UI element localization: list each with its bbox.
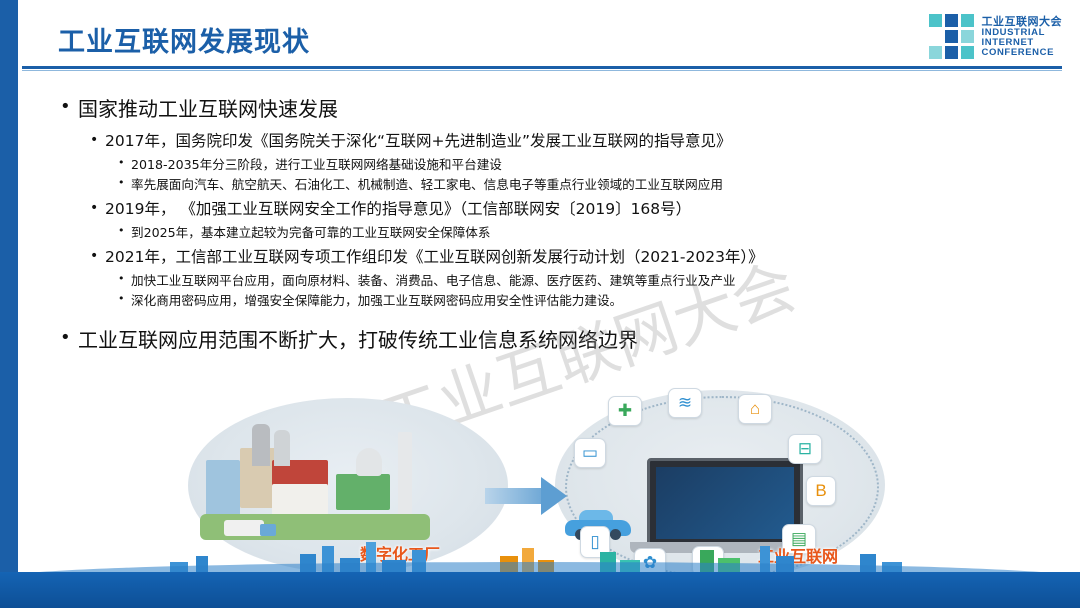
train-icon: ⊟ <box>788 434 822 464</box>
factory-building-white <box>272 484 328 516</box>
warehouse-green <box>336 474 390 510</box>
logo-text-block: 工业互联网大会 INDUSTRIAL INTERNET CONFERENCE <box>982 16 1063 59</box>
wifi-icon: ≋ <box>668 388 702 418</box>
bullet-level3: • 深化商用密码应用，增强安全保障能力，加强工业互联网密码应用安全性评估能力建设… <box>118 292 1050 309</box>
silo-tower-grey <box>252 424 270 466</box>
bullet-marker: • <box>90 247 105 265</box>
bullet-level3: • 率先展面向汽车、航空航天、石油化工、机械制造、轻工家电、信息电子等重点行业领… <box>118 176 1050 193</box>
tank-cylinder <box>356 448 382 476</box>
bullet-level3: • 2018-2035年分三阶段，进行工业互联网网络基础设施和平台建设 <box>118 156 1050 173</box>
bullet-text: 加快工业互联网平台应用，面向原材料、装备、消费品、电子信息、能源、医疗医药、建筑… <box>131 272 736 289</box>
left-accent-bar <box>0 0 18 608</box>
monitor-icon: ▭ <box>574 438 606 468</box>
bullet-level1: • 工业互联网应用范围不断扩大，打破传统工业信息系统网络边界 <box>60 327 1050 354</box>
truck-body <box>224 520 264 536</box>
left-accent-bar-highlight <box>18 0 22 608</box>
bullet-marker: • <box>90 199 105 217</box>
title-divider-secondary <box>22 70 1062 71</box>
bullet-level1: • 国家推动工业互联网快速发展 <box>60 96 1050 123</box>
hospital-icon: ✚ <box>608 396 642 426</box>
bullet-text: 国家推动工业互联网快速发展 <box>78 96 338 123</box>
factory-icon: ⌂ <box>738 394 772 424</box>
bullet-text: 2019年， 《加强工业互联网安全工作的指导意见》（工信部联网安〔2019〕16… <box>105 199 691 220</box>
bullet-marker: • <box>90 131 105 149</box>
conference-logo: 工业互联网大会 INDUSTRIAL INTERNET CONFERENCE <box>929 14 1063 60</box>
t-shaped-mosaic-logo <box>929 14 975 60</box>
bullet-text: 2017年，国务院印发《国务院关于深化“互联网+先进制造业”发展工业互联网的指导… <box>105 131 732 152</box>
bullet-marker: • <box>118 292 131 307</box>
bullet-marker: • <box>118 156 131 171</box>
bullet-marker: • <box>118 176 131 191</box>
bullet-marker: • <box>60 96 78 119</box>
bullet-level2: • 2019年， 《加强工业互联网安全工作的指导意见》（工信部联网安〔2019〕… <box>90 199 1050 220</box>
office-building-blue <box>206 460 240 518</box>
logo-title-en-3: CONFERENCE <box>982 48 1063 58</box>
bullet-level3: • 加快工业互联网平台应用，面向原材料、装备、消费品、电子信息、能源、医疗医药、… <box>118 272 1050 289</box>
logo-title-cn: 工业互联网大会 <box>982 16 1063 28</box>
battery-icon: B <box>806 476 836 506</box>
blue-right-arrow <box>485 488 543 504</box>
blue-right-arrow-head <box>541 477 567 515</box>
bullet-level2: • 2017年，国务院印发《国务院关于深化“互联网+先进制造业”发展工业互联网的… <box>90 131 1050 152</box>
car-wheel-rear <box>610 529 621 540</box>
laptop-display-content <box>656 467 794 539</box>
bullet-text: 2021年，工信部工业互联网专项工作组印发《工业互联网创新发展行动计划（2021… <box>105 247 764 268</box>
laptop-screen <box>647 458 803 548</box>
bullet-text: 2018-2035年分三阶段，进行工业互联网网络基础设施和平台建设 <box>131 156 502 173</box>
bullet-marker: • <box>118 224 131 239</box>
bullet-level3: • 到2025年，基本建立起较为完备可靠的工业互联网安全保障体系 <box>118 224 1050 241</box>
bullet-text: 率先展面向汽车、航空航天、石油化工、机械制造、轻工家电、信息电子等重点行业领域的… <box>131 176 723 193</box>
bullet-marker: • <box>60 327 78 350</box>
bullet-text: 到2025年，基本建立起较为完备可靠的工业互联网安全保障体系 <box>131 224 491 241</box>
bottom-blue-band <box>0 572 1080 608</box>
slide-canvas: 工业互联网发展现状 工业互联网大会 INDUSTRIAL INTERNET CO… <box>0 0 1080 608</box>
chimney-stack <box>398 432 412 518</box>
bullet-marker: • <box>118 272 131 287</box>
bullet-list: • 国家推动工业互联网快速发展 • 2017年，国务院印发《国务院关于深化“互联… <box>60 96 1050 362</box>
bullet-text: 深化商用密码应用，增强安全保障能力，加强工业互联网密码应用安全性评估能力建设。 <box>131 292 622 309</box>
silo-tower-grey-2 <box>274 430 290 466</box>
title-divider <box>22 66 1062 69</box>
bullet-text: 工业互联网应用范围不断扩大，打破传统工业信息系统网络边界 <box>78 327 638 354</box>
bullet-level2: • 2021年，工信部工业互联网专项工作组印发《工业互联网创新发展行动计划（20… <box>90 247 1050 268</box>
truck-cab <box>260 524 276 536</box>
page-title: 工业互联网发展现状 <box>58 20 310 59</box>
